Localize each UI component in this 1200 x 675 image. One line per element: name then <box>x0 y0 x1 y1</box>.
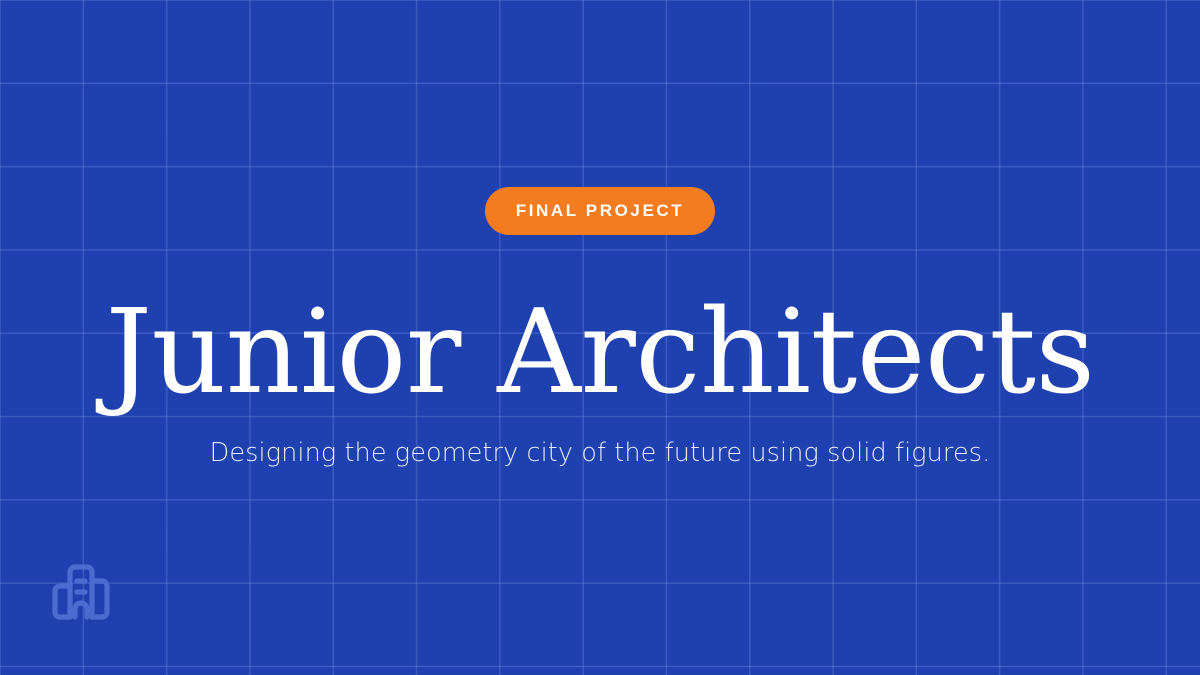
building-icon <box>45 555 117 627</box>
slide-content: FINAL PROJECT Junior Architects Designin… <box>0 0 1200 675</box>
page-title: Junior Architects <box>105 293 1094 414</box>
page-subtitle: Designing the geometry city of the futur… <box>210 436 991 470</box>
final-project-badge: FINAL PROJECT <box>485 187 716 235</box>
title-slide: FINAL PROJECT Junior Architects Designin… <box>0 0 1200 675</box>
